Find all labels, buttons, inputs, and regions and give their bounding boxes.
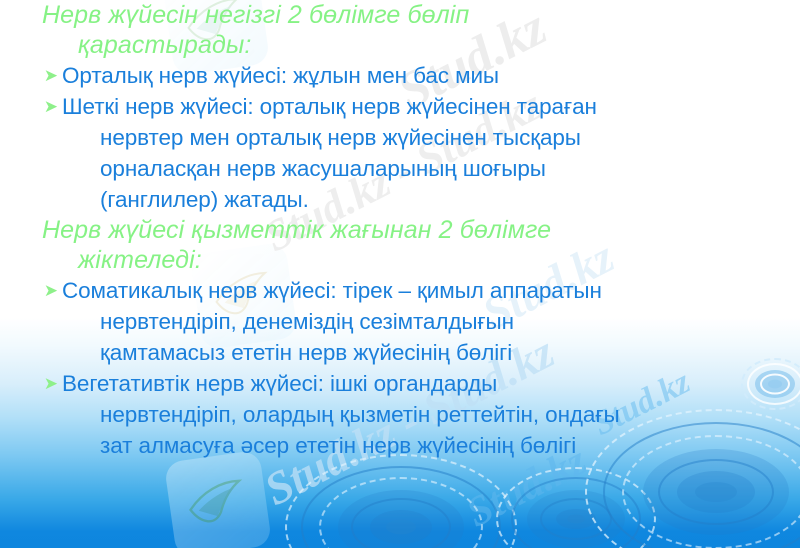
- bullet-item-2: ➤ Шеткі нерв жүйесі: орталық нерв жүйесі…: [0, 91, 800, 122]
- ripple-decoration-center: [496, 466, 656, 548]
- bullet-item-3: ➤ Соматикалық нерв жүйесі: тірек – қимыл…: [0, 275, 800, 306]
- heading-line: Нерв жүйесін негізгі 2 бөлімге бөліп: [42, 0, 800, 30]
- bullet-text-continuation: нервтер мен орталық нерв жүйесінен тысқа…: [100, 122, 800, 153]
- bullet-item-1: ➤ Орталық нерв жүйесі: жұлын мен бас миы: [0, 60, 800, 91]
- bullet-text-continuation: нервтендіріп, олардың қызметін реттейтін…: [100, 399, 800, 430]
- bullet-text-continuation: зат алмасуға әсер ететін нерв жүйесінің …: [100, 430, 800, 461]
- bullet-text-continuation: нервтендіріп, денеміздің сезімталдығын: [100, 306, 800, 337]
- presentation-slide: Stud.kz Stud.kz - Stud.kz Stud.kz Stud.k…: [0, 0, 800, 548]
- heading-line: жіктеледі:: [78, 245, 800, 275]
- heading-block-1: Нерв жүйесін негізгі 2 бөлімге бөліп қар…: [0, 0, 800, 60]
- bird-leaf-icon: [180, 468, 254, 539]
- bullet-text: Орталық нерв жүйесі: жұлын мен бас миы: [62, 60, 499, 91]
- heading-block-2: Нерв жүйесі қызметтік жағынан 2 бөлімге …: [0, 215, 800, 275]
- bullet-text: Соматикалық нерв жүйесі: тірек – қимыл а…: [62, 275, 602, 306]
- logo-watermark-bottom: [164, 450, 272, 548]
- bullet-text: Вегетативтік нерв жүйесі: ішкі органдард…: [62, 368, 497, 399]
- heading-line: қарастырады:: [78, 30, 800, 60]
- bullet-arrow-icon: ➤: [0, 275, 62, 306]
- heading-line: Нерв жүйесі қызметтік жағынан 2 бөлімге: [42, 215, 800, 245]
- bullet-arrow-icon: ➤: [0, 91, 62, 122]
- bullet-text-continuation: орналасқан нерв жасушаларының шоғыры: [100, 153, 800, 184]
- bullet-item-4: ➤ Вегетативтік нерв жүйесі: ішкі органда…: [0, 368, 800, 399]
- slide-text-body: Нерв жүйесін негізгі 2 бөлімге бөліп қар…: [0, 0, 800, 461]
- bullet-text-continuation: (ганглилер) жатады.: [100, 184, 800, 215]
- bullet-arrow-icon: ➤: [0, 60, 62, 91]
- ripple-decoration-left: [286, 452, 516, 548]
- bullet-text-continuation: қамтамасыз ететін нерв жүйесінің бөлігі: [100, 337, 800, 368]
- bullet-arrow-icon: ➤: [0, 368, 62, 399]
- bullet-text: Шеткі нерв жүйесі: орталық нерв жүйесіне…: [62, 91, 597, 122]
